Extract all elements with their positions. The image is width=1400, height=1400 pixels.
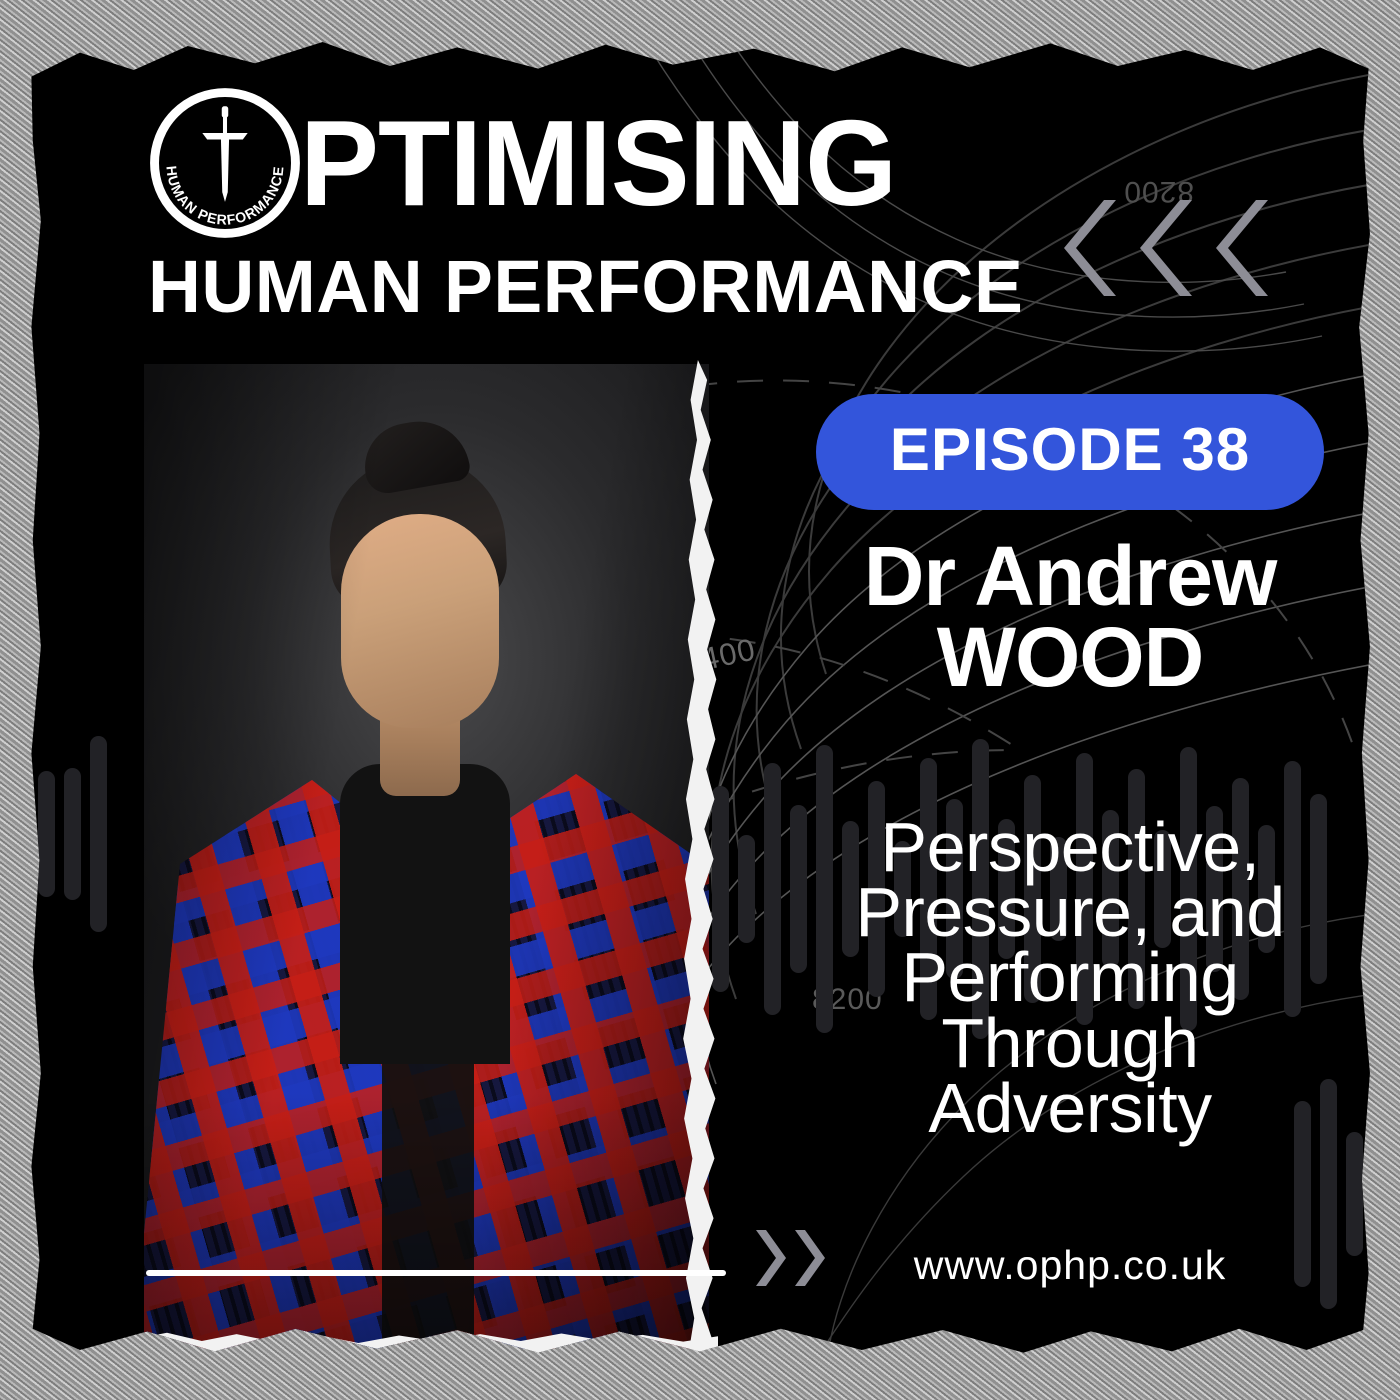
sword-icon [202,106,247,202]
website-url: www.ophp.co.uk [740,1242,1374,1289]
wordmark-optimising: PTIMISING [300,107,896,219]
cover-card: 8200 8400 8200 [26,34,1374,1366]
guest-name-line1: Dr Andrew [740,536,1374,617]
podcast-cover-art: 8200 8400 8200 [0,0,1400,1400]
episode-title-line4: Through [740,1011,1374,1076]
guest-photo-image [144,364,709,1349]
chevron-left-icon [1118,200,1192,296]
episode-title-line2: Pressure, and [740,880,1374,945]
chevron-left-icon [1194,200,1268,296]
guest-name-line2: WOOD [740,617,1374,698]
ophp-logo-badge: HUMAN PERFORMANCE [144,82,306,244]
episode-info-column: EPISODE 38 Dr Andrew WOOD Perspective, P… [740,394,1374,1141]
guest-name: Dr Andrew WOOD [740,536,1374,697]
guest-photo [144,364,709,1349]
episode-badge: EPISODE 38 [816,394,1324,510]
episode-title-line3: Performing [740,945,1374,1010]
waveform-left [26,734,107,934]
chevron-left-icon [1042,200,1116,296]
episode-title: Perspective, Pressure, and Performing Th… [740,815,1374,1140]
chevron-left-group [1042,200,1268,296]
white-divider-rule [146,1270,726,1276]
photo-vignette [144,364,709,1349]
episode-title-line1: Perspective, [740,815,1374,880]
episode-title-line5: Adversity [740,1076,1374,1141]
